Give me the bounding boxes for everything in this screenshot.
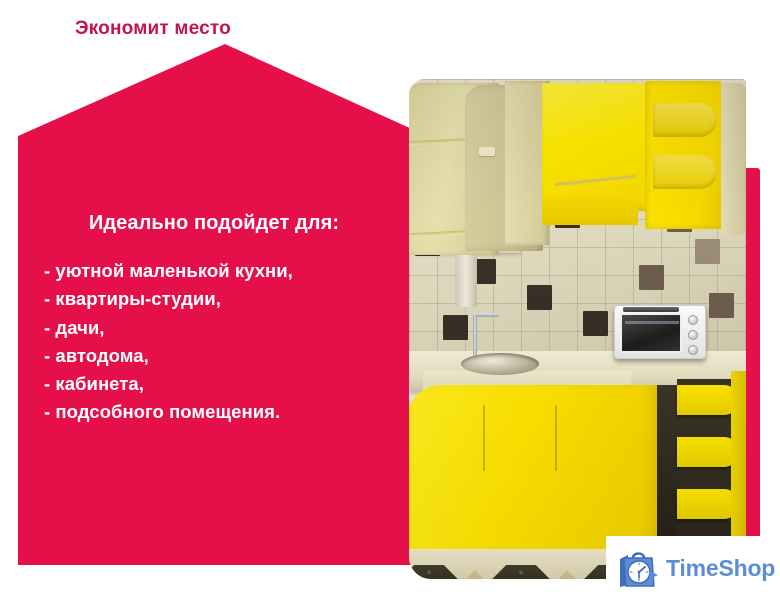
sink-basin bbox=[461, 353, 539, 375]
kitchen-photo bbox=[409, 79, 746, 579]
list-item: - автодома, bbox=[44, 342, 384, 370]
shopping-bag-clock-icon bbox=[614, 545, 660, 591]
upper-open-shelf-unit bbox=[645, 81, 729, 229]
benefit-list: - уютной маленькой кухни, - квартиры-сту… bbox=[44, 257, 384, 427]
list-item: - дачи, bbox=[44, 314, 384, 342]
list-item: - уютной маленькой кухни, bbox=[44, 257, 384, 285]
copy-heading: Идеально подойдет для: bbox=[44, 212, 384, 235]
brand-name: TimeShop bbox=[666, 555, 775, 582]
copy-block: Идеально подойдет для: - уютной маленько… bbox=[44, 212, 384, 427]
slide-canvas: Экономит место Идеально подойдет для: - … bbox=[0, 0, 780, 600]
page-title: Экономит место bbox=[75, 18, 231, 40]
photo-content bbox=[409, 79, 746, 579]
hood-pipe bbox=[455, 249, 477, 307]
list-item: - квартиры-студии, bbox=[44, 285, 384, 313]
list-item: - подсобного помещения. bbox=[44, 398, 384, 426]
brand-logo[interactable]: TimeShop bbox=[606, 536, 780, 600]
upper-cabinet-skirt bbox=[542, 197, 638, 225]
upper-cabinet-yellow bbox=[542, 83, 657, 211]
countertop-oven bbox=[614, 305, 706, 359]
upper-cabinet-side-panel bbox=[721, 83, 745, 235]
list-item: - кабинета, bbox=[44, 370, 384, 398]
faucet-stem bbox=[473, 315, 477, 357]
